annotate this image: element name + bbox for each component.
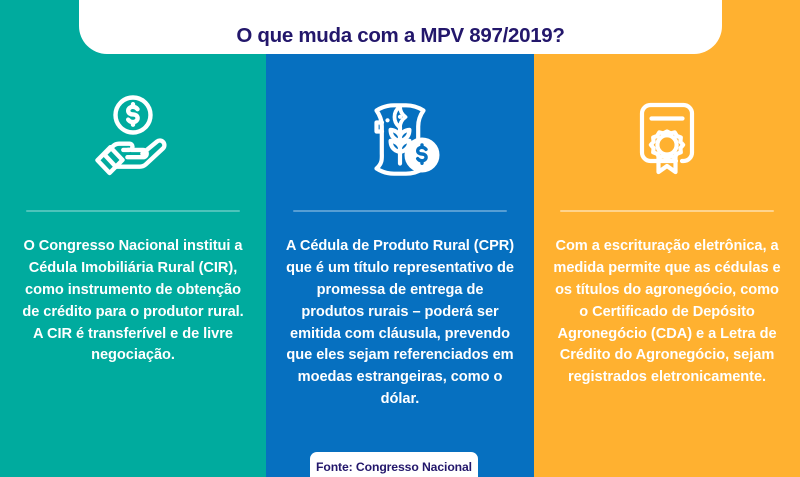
- column-background-strip: O Congresso Nacional institui a Cédula I…: [0, 0, 800, 477]
- column-divider: [293, 210, 507, 212]
- column-body-text: A Cédula de Produto Rural (CPR) que é um…: [284, 236, 516, 411]
- column-body-text: Com a escrituração eletrônica, a medida …: [551, 236, 783, 389]
- hand-holding-coin-icon: [90, 86, 176, 182]
- column-escrituracao: Com a escrituração eletrônica, a medida …: [534, 0, 800, 477]
- column-body-text: O Congresso Nacional institui a Cédula I…: [17, 236, 249, 367]
- column-cpr: A Cédula de Produto Rural (CPR) que é um…: [266, 0, 534, 477]
- column-divider: [560, 210, 774, 212]
- column-cir: O Congresso Nacional institui a Cédula I…: [0, 0, 266, 477]
- grain-sack-coin-icon: [357, 86, 443, 182]
- source-badge-label: Fonte: Congresso Nacional: [316, 460, 472, 474]
- header-band: O que muda com a MPV 897/2019?: [79, 0, 722, 54]
- certificate-seal-icon: [624, 86, 710, 182]
- page-title: O que muda com a MPV 897/2019?: [236, 25, 564, 48]
- source-badge: Fonte: Congresso Nacional: [310, 452, 478, 477]
- infographic-root: O Congresso Nacional institui a Cédula I…: [0, 0, 800, 477]
- column-divider: [26, 210, 240, 212]
